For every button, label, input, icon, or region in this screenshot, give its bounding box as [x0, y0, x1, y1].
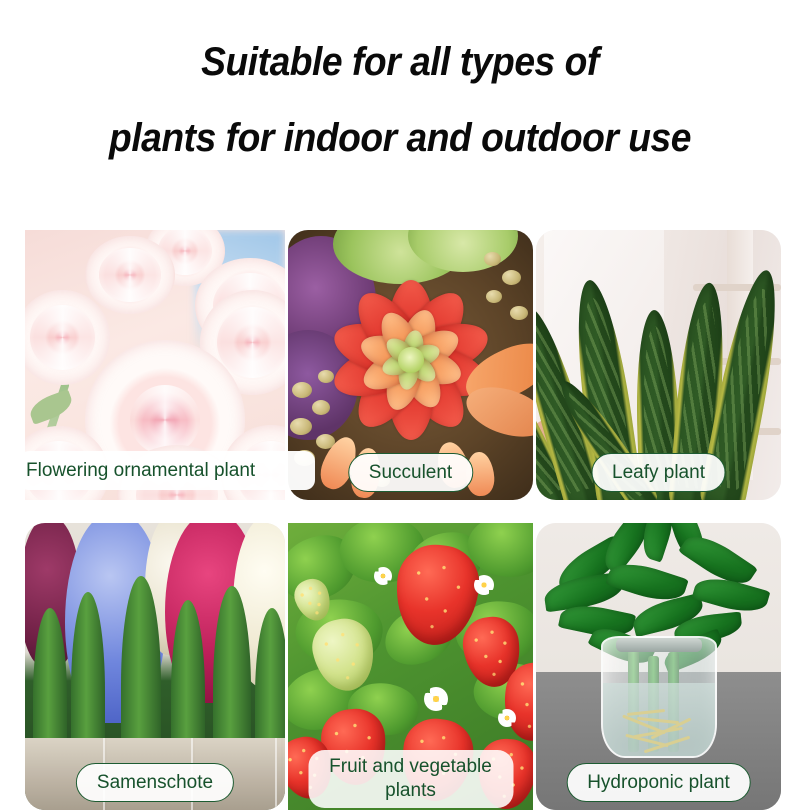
vase-rim: [616, 638, 702, 652]
strawberry-blossom: [474, 575, 494, 595]
plant-card-succulent[interactable]: Succulent: [288, 230, 533, 500]
caption-fruit-and-vegetable-plants: Fruit and vegetable plants: [308, 750, 513, 808]
strawberry-blossom: [498, 709, 516, 727]
caption-samenschote: Samenschote: [76, 763, 234, 802]
rose-bloom: [85, 236, 175, 314]
infographic-page: Suitable for all types of plants for ind…: [0, 0, 800, 800]
caption-leafy-plant: Leafy plant: [591, 453, 726, 492]
rose-bloom: [25, 290, 110, 385]
echeveria-rosette: [311, 260, 511, 460]
strawberry-blossom: [374, 567, 392, 585]
glass-vase: [601, 636, 717, 758]
page-title-line-2: plants for indoor and outdoor use: [28, 100, 772, 176]
caption-succulent: Succulent: [348, 453, 473, 492]
plant-card-hydroponic-plant[interactable]: Hydroponic plant: [536, 523, 781, 810]
caption-hydroponic-plant: Hydroponic plant: [566, 763, 751, 802]
strawberry-blossom: [424, 687, 448, 711]
page-title: Suitable for all types of plants for ind…: [28, 24, 772, 176]
plant-type-grid: Flowering ornamental plant: [25, 230, 775, 810]
caption-flowering-ornamental-plant: Flowering ornamental plant: [19, 451, 315, 490]
plant-card-flowering-ornamental-plant[interactable]: Flowering ornamental plant: [25, 230, 285, 500]
plant-card-leafy-plant[interactable]: Leafy plant: [536, 230, 781, 500]
plant-card-samenschote[interactable]: Samenschote: [25, 523, 285, 810]
plant-card-fruit-and-vegetable-plants[interactable]: Fruit and vegetable plants: [288, 523, 533, 810]
page-title-line-1: Suitable for all types of: [28, 24, 772, 100]
